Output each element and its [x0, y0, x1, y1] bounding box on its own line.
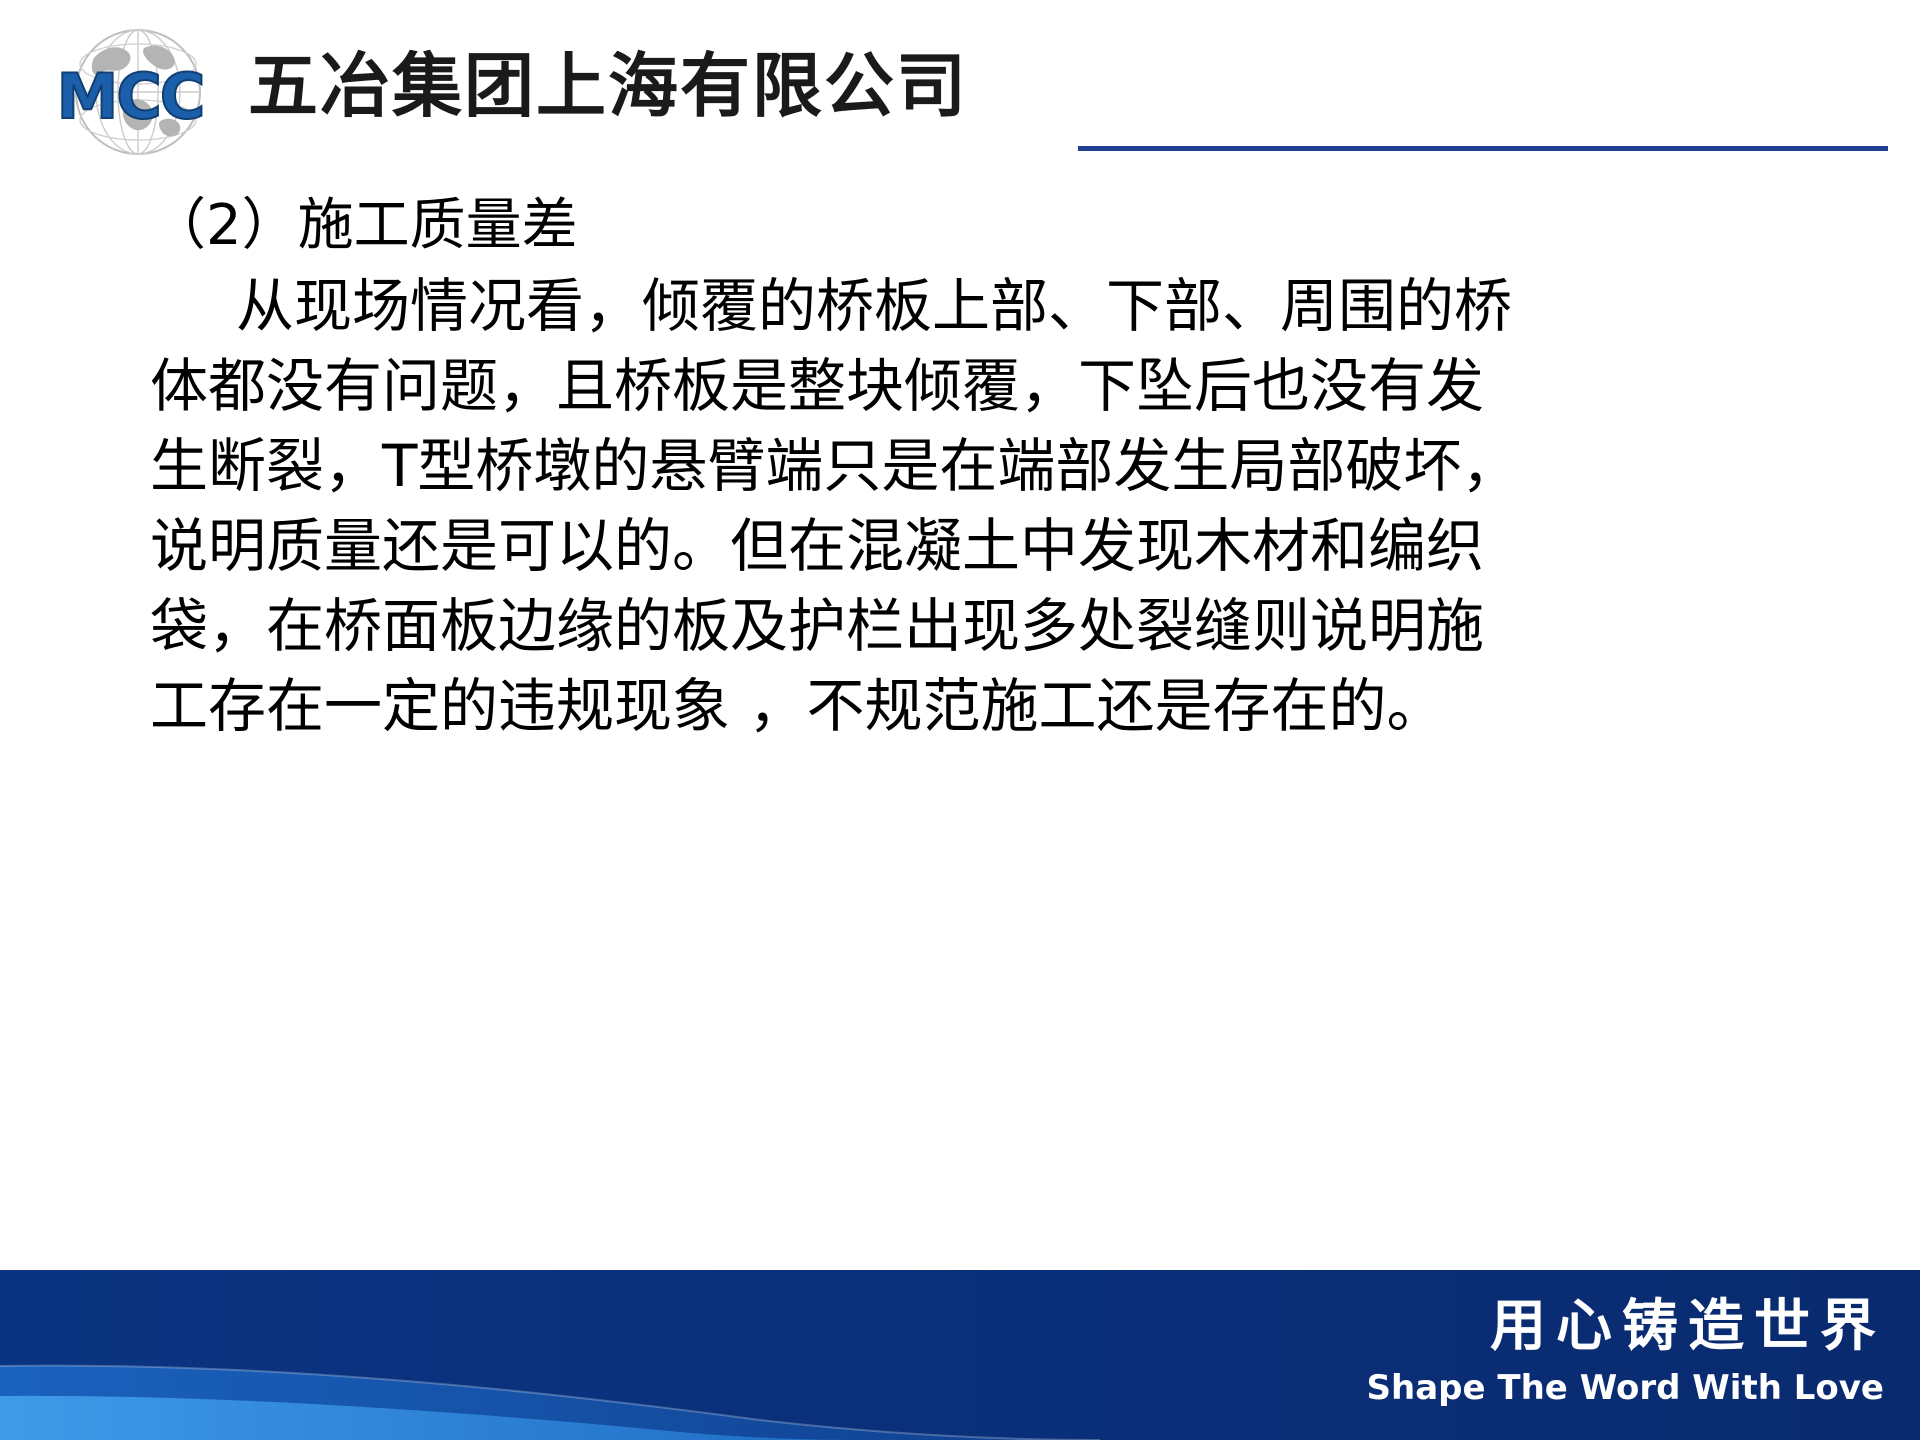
footer-slogan-en: Shape The Word With Love	[1367, 1368, 1884, 1408]
paragraph-line: 体都没有问题，且桥板是整块倾覆，下坠后也没有发	[150, 346, 1850, 426]
header-divider	[1078, 146, 1888, 151]
section-heading: （2）施工质量差	[150, 188, 1850, 264]
paragraph-line: 说明质量还是可以的。但在混凝土中发现木材和编织	[150, 506, 1850, 586]
mcc-logo: MCC	[30, 22, 230, 162]
slide-footer: 用心铸造世界 Shape The Word With Love	[0, 1270, 1920, 1440]
slide-header: MCC 五冶集团上海有限公司	[0, 0, 1920, 170]
paragraph-line: 袋，在桥面板边缘的板及护栏出现多处裂缝则说明施	[150, 586, 1850, 666]
slide-content: （2）施工质量差 从现场情况看，倾覆的桥板上部、下部、周围的桥 体都没有问题，且…	[150, 188, 1850, 746]
paragraph-line: 工存在一定的违规现象 ，不规范施工还是存在的。	[150, 666, 1850, 746]
slide: MCC 五冶集团上海有限公司 （2）施工质量差 从现场情况看，倾覆的桥板上部、下…	[0, 0, 1920, 1440]
paragraph-line: 生断裂，T型桥墩的悬臂端只是在端部发生局部破坏，	[150, 426, 1850, 506]
company-title: 五冶集团上海有限公司	[248, 46, 968, 126]
footer-slogan-cn: 用心铸造世界	[1490, 1296, 1886, 1358]
paragraph-line: 从现场情况看，倾覆的桥板上部、下部、周围的桥	[150, 266, 1850, 346]
body-paragraph: 从现场情况看，倾覆的桥板上部、下部、周围的桥 体都没有问题，且桥板是整块倾覆，下…	[150, 266, 1850, 746]
mcc-wordmark: MCC	[30, 66, 230, 128]
